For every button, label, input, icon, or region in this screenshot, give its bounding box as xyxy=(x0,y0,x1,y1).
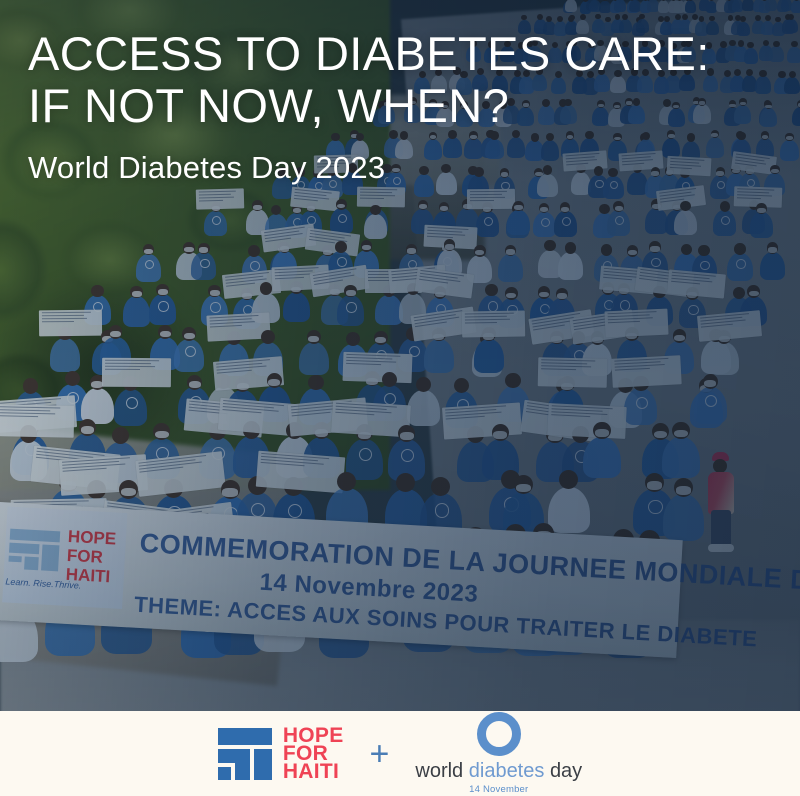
wdd-word-3: day xyxy=(550,760,582,782)
world-diabetes-day-logo[interactable]: world diabetes day 14 November xyxy=(415,712,582,795)
hope-for-haiti-mark-icon xyxy=(218,728,272,780)
hope-for-haiti-logo[interactable]: HOPE FOR HAITI xyxy=(218,727,344,781)
wdd-word-1: world xyxy=(415,760,463,782)
headline-line-1: ACCESS TO DIABETES CARE: xyxy=(28,28,768,80)
plus-icon: + xyxy=(370,739,390,769)
headline-line-2: IF NOT NOW, WHEN? xyxy=(28,80,768,132)
footer-logo-bar: HOPE FOR HAITI + world diabetes day 14 N… xyxy=(0,711,800,796)
wdd-word-2: diabetes xyxy=(469,760,545,782)
poster: HOPE FOR HAITI Learn. Rise.Thrive. COMME… xyxy=(0,0,800,796)
page-subtitle: World Diabetes Day 2023 xyxy=(28,150,768,186)
world-diabetes-day-date: 14 November xyxy=(469,784,528,795)
world-diabetes-day-wordmark: world diabetes day xyxy=(415,761,582,781)
blue-circle-icon xyxy=(477,712,521,756)
hope-for-haiti-wordmark: HOPE FOR HAITI xyxy=(283,727,344,781)
headline-block: ACCESS TO DIABETES CARE: IF NOT NOW, WHE… xyxy=(28,28,768,186)
page-title: ACCESS TO DIABETES CARE: IF NOT NOW, WHE… xyxy=(28,28,768,132)
hfh-line-3: HAITI xyxy=(283,763,344,781)
